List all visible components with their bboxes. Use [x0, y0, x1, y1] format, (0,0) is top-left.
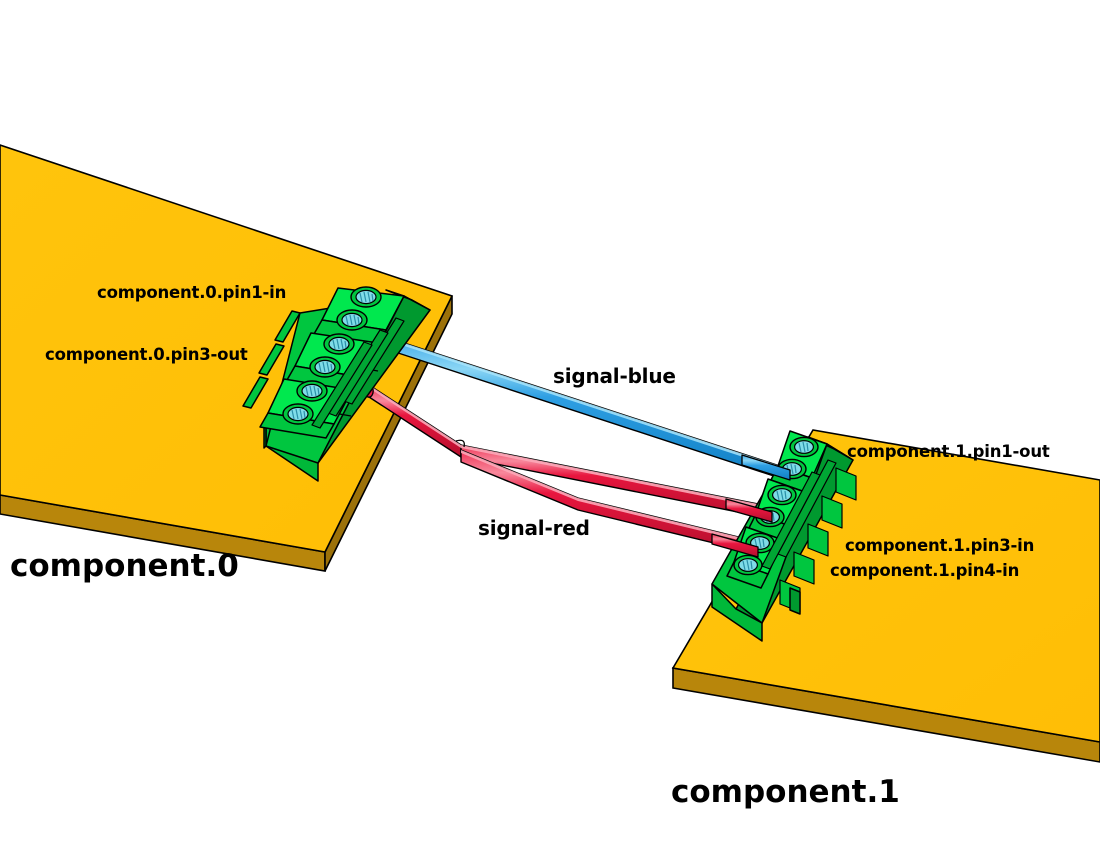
connector-0-terminal-1[interactable] [351, 287, 381, 307]
connector-0-terminal-6[interactable] [283, 404, 313, 424]
wire-signal-blue[interactable] [385, 338, 788, 480]
connector-0-terminal-3[interactable] [324, 334, 354, 354]
connector-1-terminal-1[interactable] [790, 437, 818, 456]
connector-0-terminal-2[interactable] [337, 310, 367, 330]
connector-1-foot [790, 588, 800, 614]
pin-label-component-1-pin3-in: component.1.pin3-in [845, 538, 1034, 555]
pin-label-component-0-pin3-out: component.0.pin3-out [45, 347, 248, 364]
pin-label-component-0-pin1-in: component.0.pin1-in [97, 285, 286, 302]
scene-svg [0, 0, 1100, 850]
pin-label-component-1-pin1-out: component.1.pin1-out [847, 444, 1050, 461]
signal-label-signal-red: signal-red [478, 518, 590, 538]
wiring-diagram-canvas: component.0 component.1 component.0.pin1… [0, 0, 1100, 850]
signal-label-signal-blue: signal-blue [553, 366, 676, 386]
connector-0-terminal-5[interactable] [297, 381, 327, 401]
board-label-component-0: component.0 [10, 551, 239, 582]
pin-label-component-1-pin4-in: component.1.pin4-in [830, 563, 1019, 580]
signal-blue-highlight [389, 338, 783, 470]
connector-1-terminal-6[interactable] [734, 555, 762, 574]
board-label-component-1: component.1 [671, 777, 900, 808]
connector-0-terminal-4[interactable] [310, 357, 340, 377]
connector-1-terminal-3[interactable] [768, 485, 796, 504]
